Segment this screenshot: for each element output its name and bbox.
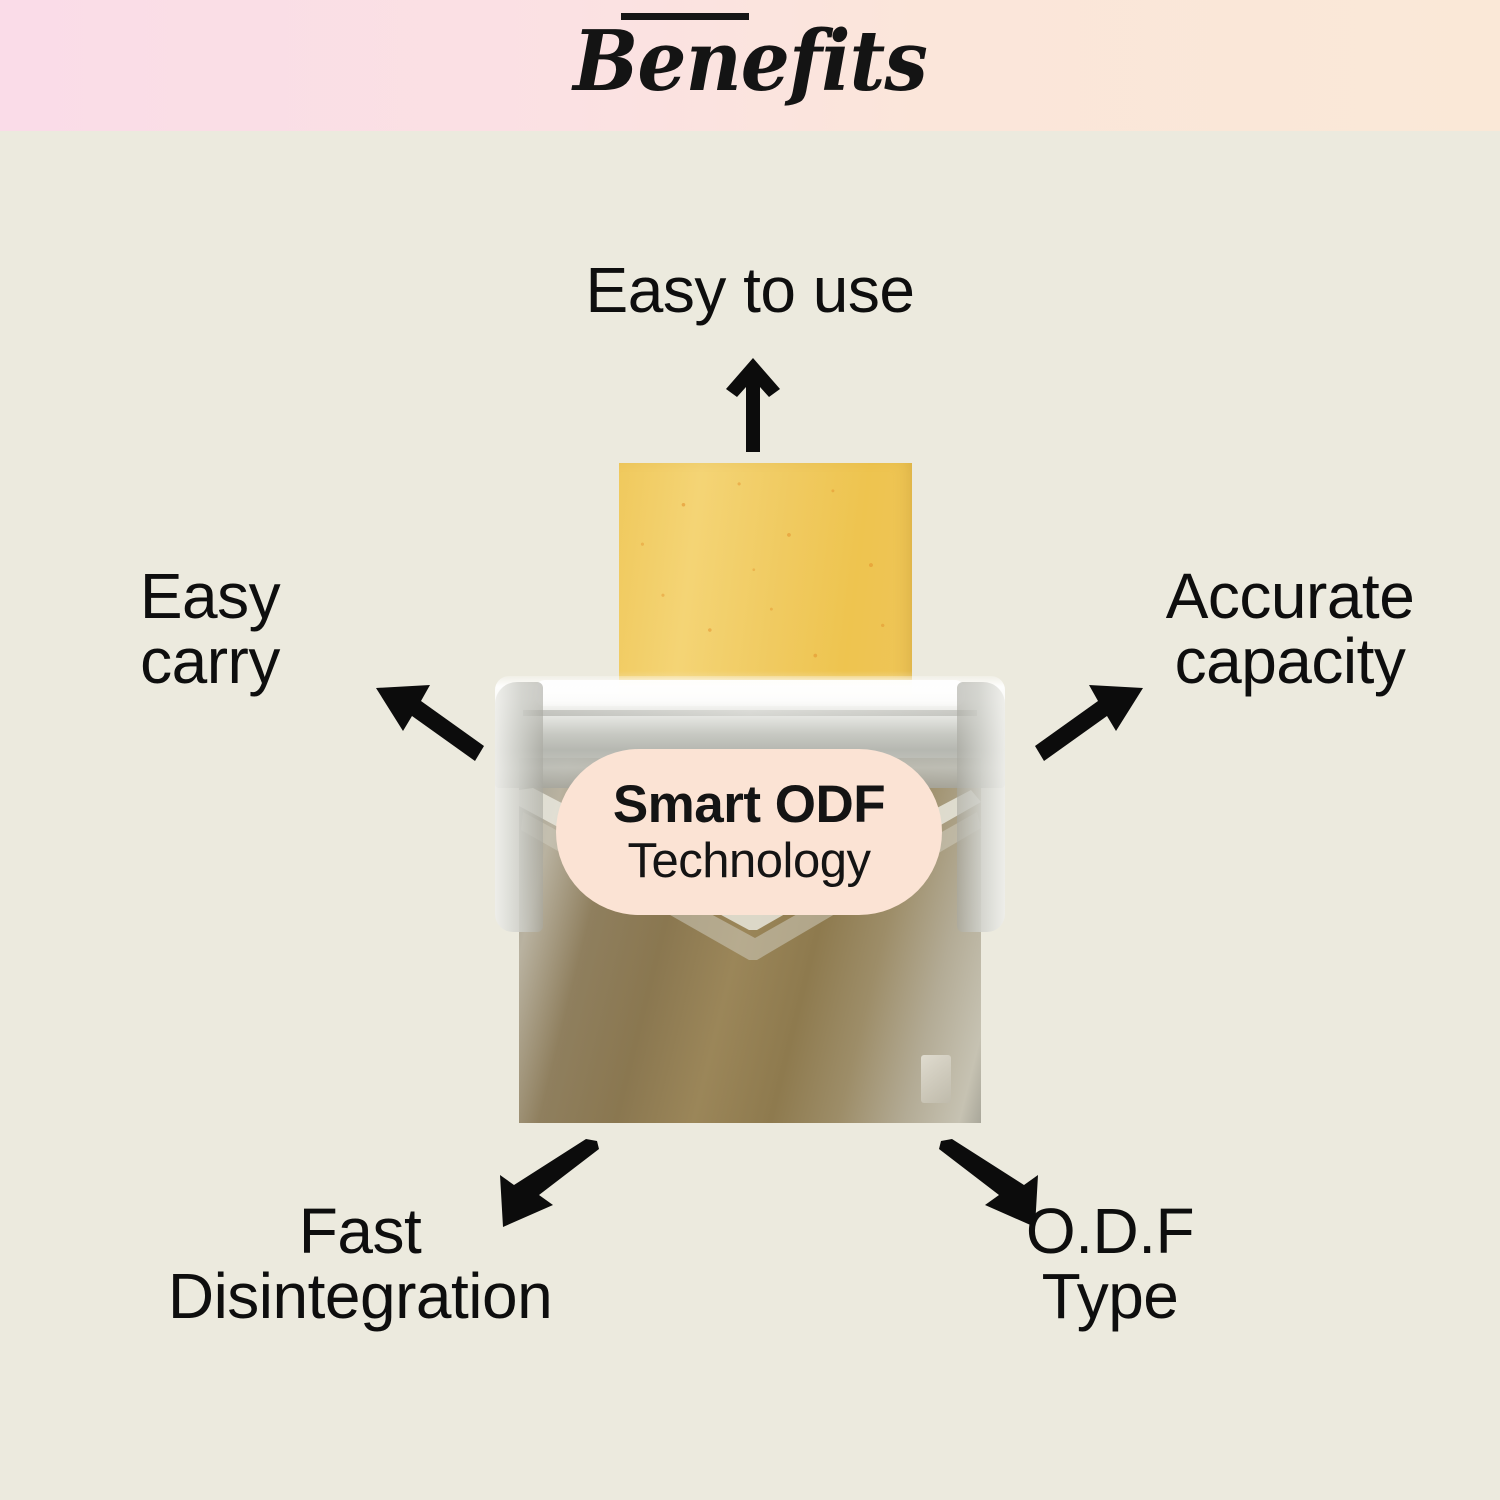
arrow-down-left-icon <box>497 1139 601 1236</box>
benefit-label-easy-carry: Easy carry <box>60 564 360 695</box>
header-banner: Benefits <box>0 0 1500 131</box>
arrow-down-right-icon <box>937 1139 1041 1236</box>
benefit-label-accurate-capacity: Accurate capacity <box>1100 564 1480 695</box>
smart-odf-technology-badge: Smart ODF Technology <box>556 749 942 915</box>
arrow-up-left-icon <box>374 684 488 777</box>
arrow-up-right-icon <box>1031 684 1145 777</box>
arrow-up-icon <box>722 358 784 457</box>
badge-subtitle: Technology <box>628 837 871 886</box>
benefit-label-easy-to-use: Easy to use <box>0 258 1500 323</box>
sachet-tear-notch <box>921 1055 951 1103</box>
sachet-highlight <box>535 680 965 706</box>
sachet-left-edge <box>495 682 543 932</box>
sachet-right-edge <box>957 682 1005 932</box>
badge-title: Smart ODF <box>613 778 885 831</box>
benefits-infographic: Benefits Smart ODF Technology Easy <box>0 0 1500 1500</box>
odf-film-strip <box>619 463 912 695</box>
page-title: Benefits <box>53 18 1448 105</box>
